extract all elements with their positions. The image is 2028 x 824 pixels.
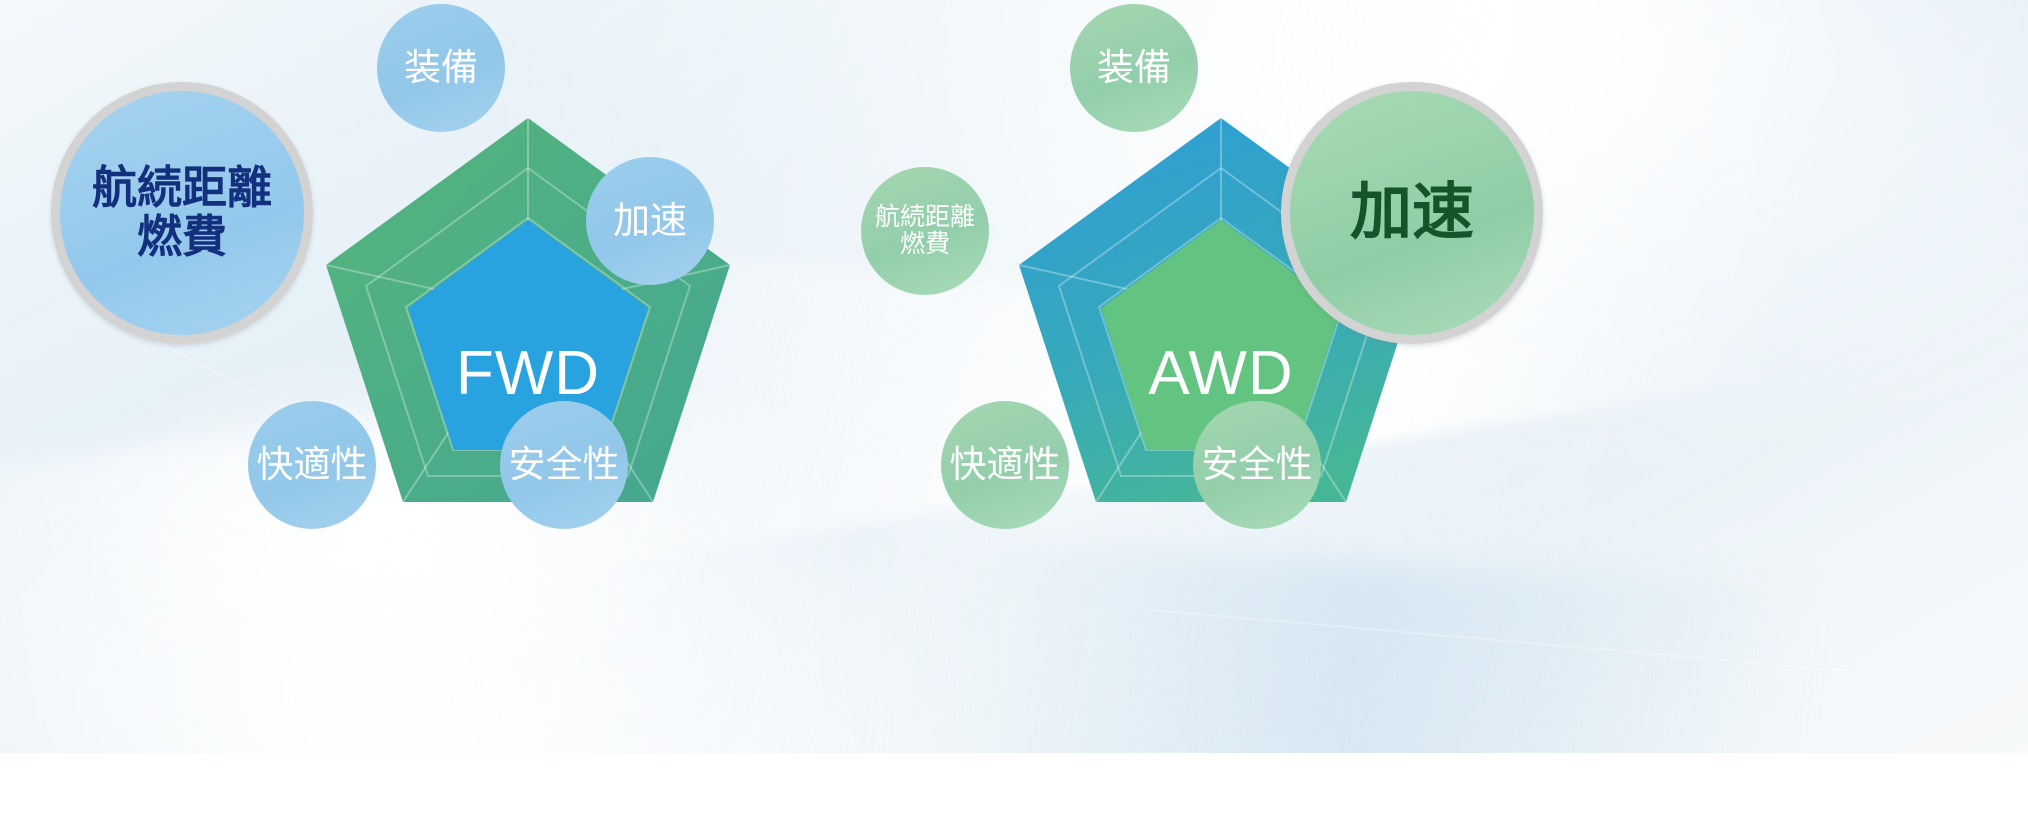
awd-hero-bubble-acceleration[interactable]: 加速 [1281,82,1543,344]
awd-bubble-comfort[interactable]: 快適性 [941,401,1069,529]
fwd-label-comfort: 快適性 [257,445,368,485]
awd-label-range-line-2: 燃費 [875,231,975,258]
slide-footer-band [0,753,2028,824]
fwd-bubble-acceleration[interactable]: 加速 [586,157,714,285]
awd-center-label: AWD [1011,338,1431,409]
awd-hero-label: 加速 [1350,180,1474,247]
fwd-hero-line-1: 航続距離 [92,164,272,213]
background-mesh-line [1151,609,1848,671]
fwd-center-label: FWD [318,338,738,409]
fwd-hero-line-2: 燃費 [92,213,272,262]
background-streak-4 [894,537,1806,753]
fwd-bubble-equipment[interactable]: 装備 [377,4,505,132]
fwd-label-safety: 安全性 [509,445,620,485]
fwd-label-acceleration: 加速 [613,201,687,241]
awd-bubble-equipment[interactable]: 装備 [1070,4,1198,132]
awd-label-range-line-1: 航続距離 [875,204,975,231]
awd-label-equipment: 装備 [1097,48,1171,88]
fwd-bubble-safety[interactable]: 安全性 [500,401,628,529]
awd-bubble-safety[interactable]: 安全性 [1193,401,1321,529]
awd-label-comfort: 快適性 [950,445,1061,485]
fwd-label-equipment: 装備 [404,48,478,88]
fwd-hero-bubble-range-fuel[interactable]: 航続距離 燃費 [51,82,313,344]
fwd-bubble-comfort[interactable]: 快適性 [248,401,376,529]
awd-bubble-range-fuel[interactable]: 航続距離 燃費 [861,167,989,295]
infographic-slide: FWD 航続距離 燃費 装備 加速 安全性 快適性 [0,0,2028,753]
awd-label-safety: 安全性 [1202,445,1313,485]
